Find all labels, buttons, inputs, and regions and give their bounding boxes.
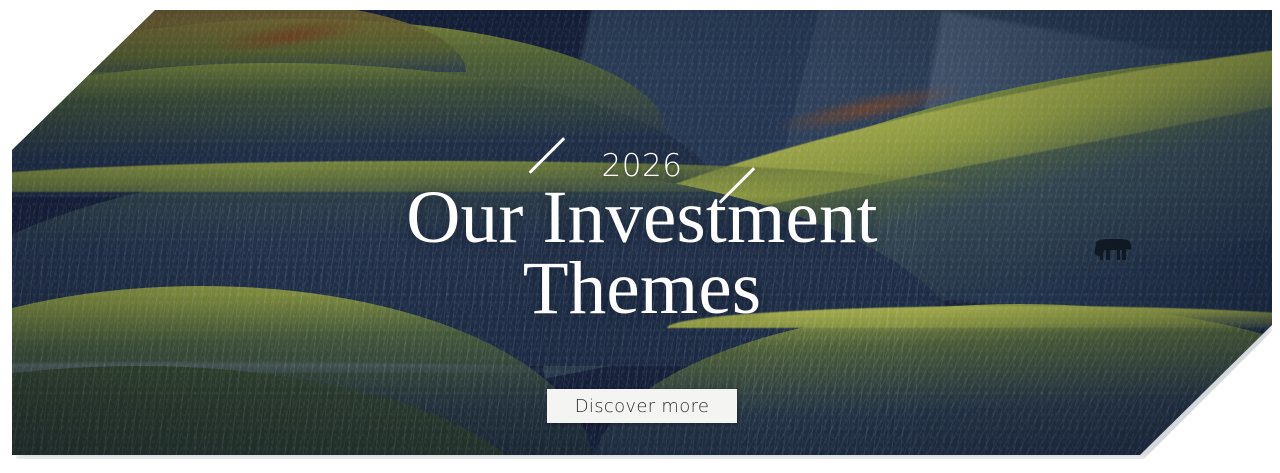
hero-banner: 2026 Our Investment Themes Discover more xyxy=(12,10,1272,455)
banner-content-overlay: 2026 Our Investment Themes Discover more xyxy=(12,10,1272,455)
discover-more-label: Discover more xyxy=(575,396,710,417)
discover-more-button[interactable]: Discover more xyxy=(547,389,737,423)
page-title: Our Investment Themes xyxy=(12,182,1272,325)
page-title-line-2: Themes xyxy=(12,253,1272,324)
page-title-line-1: Our Investment xyxy=(12,182,1272,253)
